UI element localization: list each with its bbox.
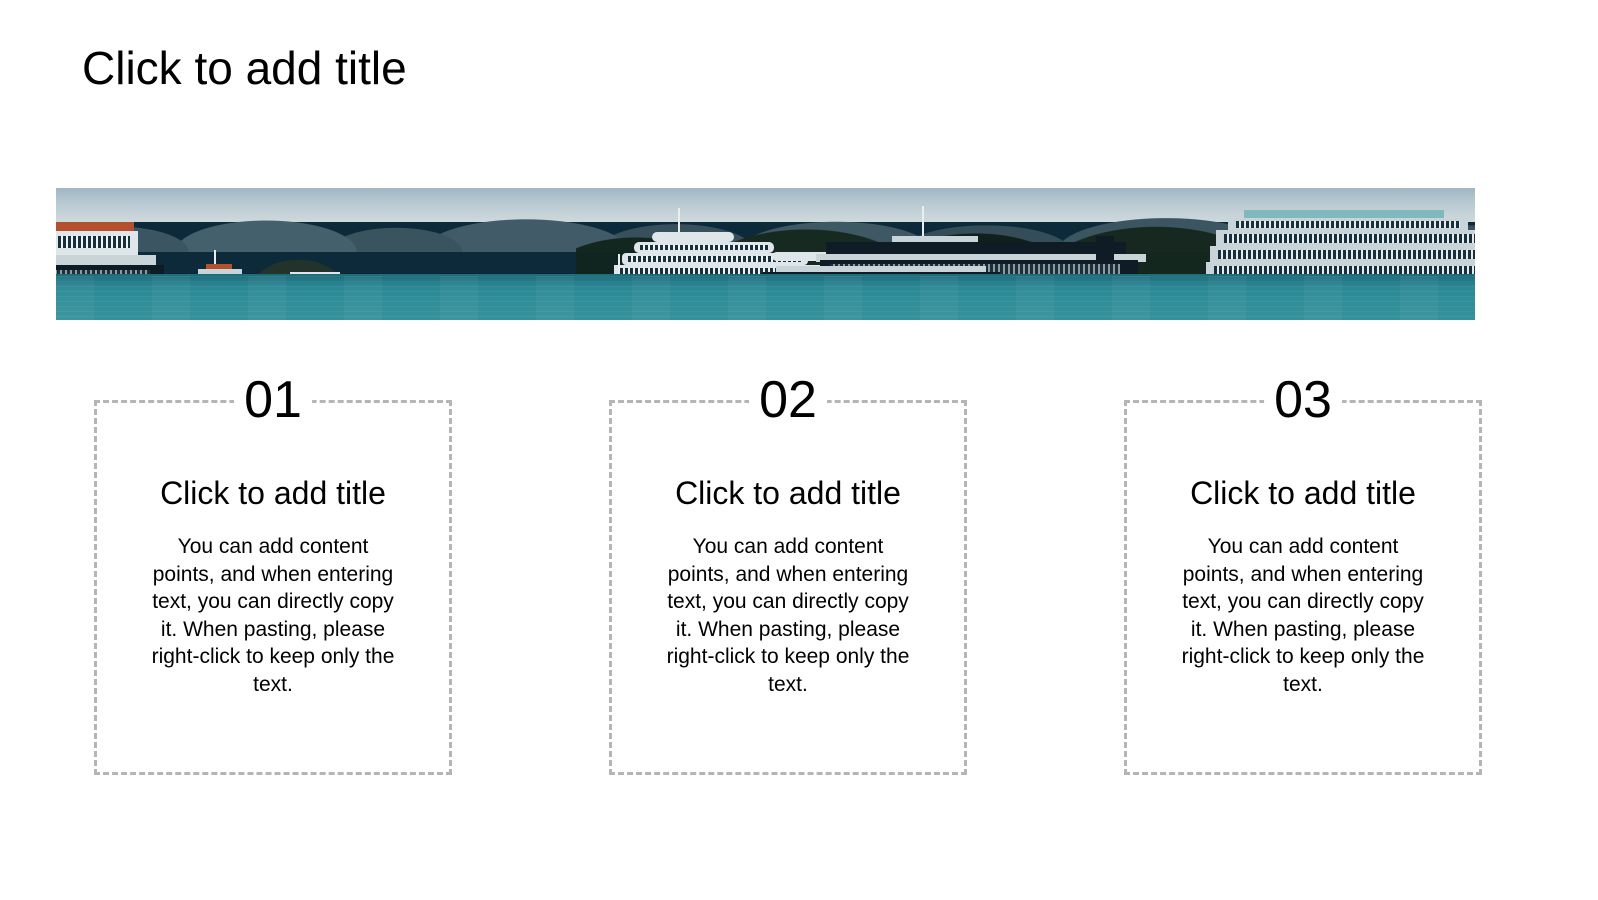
card-body-placeholder[interactable]: You can add content points, and when ent…	[665, 533, 911, 698]
content-card-01[interactable]: 01 Click to add title You can add conten…	[94, 400, 452, 775]
card-title-placeholder[interactable]: Click to add title	[612, 473, 964, 513]
banner-image[interactable]	[56, 188, 1475, 320]
card-body-placeholder[interactable]: You can add content points, and when ent…	[150, 533, 396, 698]
card-number-badge: 02	[749, 367, 827, 433]
card-title-placeholder[interactable]: Click to add title	[1127, 473, 1479, 513]
card-number-badge: 01	[234, 367, 312, 433]
card-title-placeholder[interactable]: Click to add title	[97, 473, 449, 513]
content-card-02[interactable]: 02 Click to add title You can add conten…	[609, 400, 967, 775]
card-number-badge: 03	[1264, 367, 1342, 433]
water-ripples-overlay	[56, 276, 1475, 320]
card-body-placeholder[interactable]: You can add content points, and when ent…	[1180, 533, 1426, 698]
slide-title-placeholder[interactable]: Click to add title	[82, 38, 407, 98]
content-card-03[interactable]: 03 Click to add title You can add conten…	[1124, 400, 1482, 775]
